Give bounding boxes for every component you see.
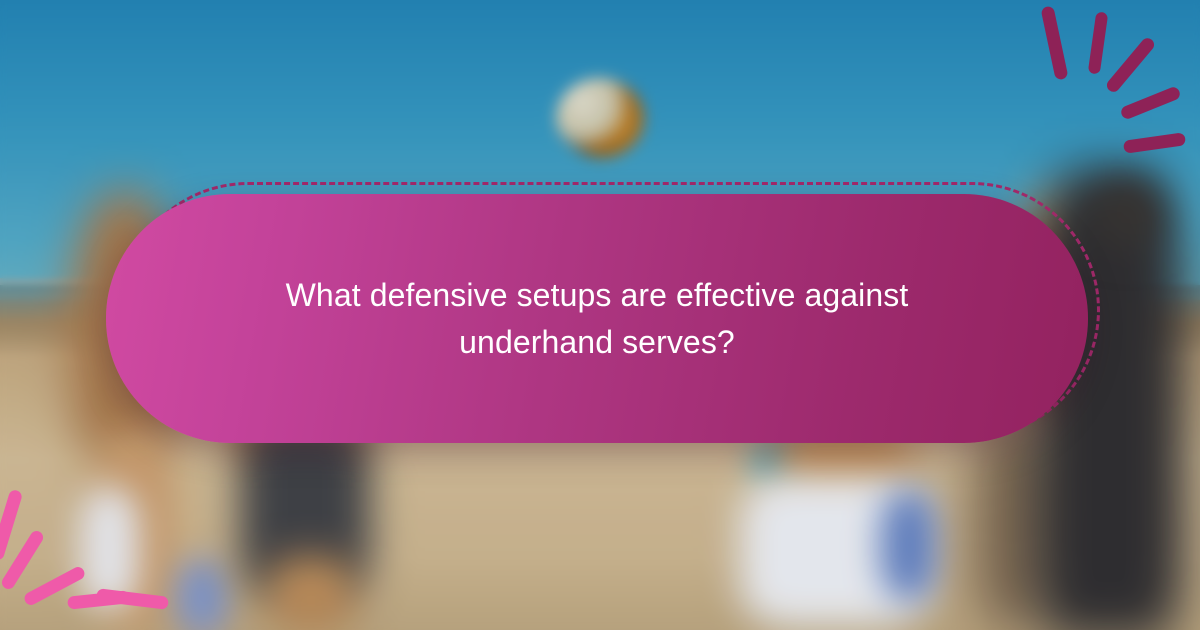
question-text: What defensive setups are effective agai… xyxy=(207,272,987,365)
sparkle-burst-top-right xyxy=(1020,0,1200,170)
sparkle-stroke-icon xyxy=(1040,5,1068,80)
question-card-graphic: What defensive setups are effective agai… xyxy=(0,0,1200,630)
question-card: What defensive setups are effective agai… xyxy=(106,194,1088,443)
sparkle-stroke-icon xyxy=(1104,36,1156,95)
sparkle-stroke-icon xyxy=(1123,132,1186,154)
sparkle-burst-bottom-left xyxy=(0,465,175,630)
sparkle-stroke-icon xyxy=(96,588,169,610)
sparkle-stroke-icon xyxy=(1088,11,1109,74)
sparkle-stroke-icon xyxy=(1119,85,1181,120)
